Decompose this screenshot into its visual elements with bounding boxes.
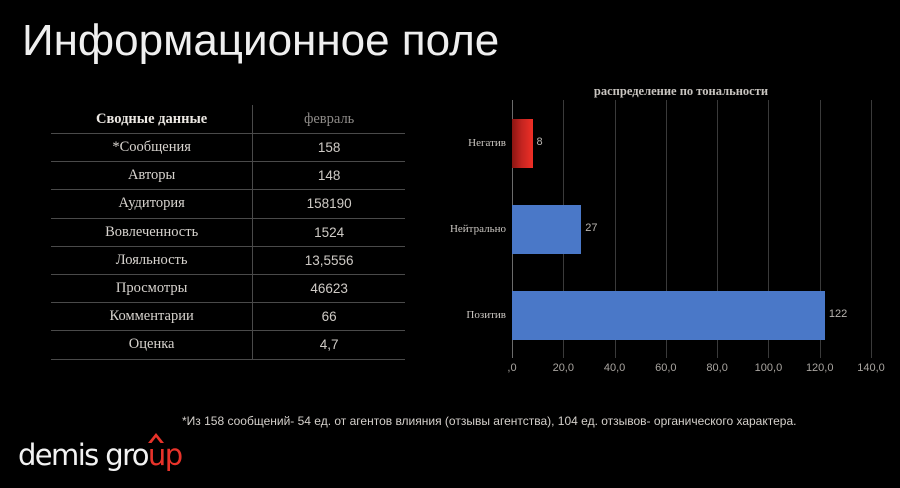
table-cell-value: 66 [253, 303, 405, 331]
table-cell-value: 148 [253, 162, 405, 190]
table-cell-metric: Аудитория [51, 190, 253, 218]
table-cell-metric: Комментарии [51, 303, 253, 331]
caret-up-icon [147, 432, 165, 448]
table-row: Аудитория158190 [51, 190, 405, 218]
x-axis-tick-label: ,0 [507, 362, 516, 374]
table-cell-metric: Вовлеченность [51, 218, 253, 246]
table-cell-metric: *Сообщения [51, 134, 253, 162]
chart-category-label: Позитив [466, 309, 506, 321]
page-title: Информационное поле [22, 16, 499, 66]
footnote-text: *Из 158 сообщений- 54 ед. от агентов вли… [182, 414, 842, 428]
chart-bar [512, 291, 825, 340]
chart-title: распределение по тональности [440, 84, 892, 99]
chart-gridline [871, 100, 872, 358]
table-cell-value: 4,7 [253, 331, 405, 359]
x-axis-tick-label: 100,0 [755, 362, 783, 374]
table-header: Сводные данные февраль [51, 105, 405, 134]
table-cell-metric: Лояльность [51, 246, 253, 274]
table-row: Лояльность13,5556 [51, 246, 405, 274]
table-cell-metric: Просмотры [51, 274, 253, 302]
slide-canvas: Информационное поле Сводные данные февра… [0, 0, 900, 488]
table-cell-metric: Авторы [51, 162, 253, 190]
table-body: *Сообщения158Авторы148Аудитория158190Вов… [51, 134, 405, 360]
table-row: Вовлеченность1524 [51, 218, 405, 246]
chart-category-label: Негатив [468, 137, 506, 149]
sentiment-bar-chart: распределение по тональности ,020,040,06… [440, 84, 892, 389]
table-header-metric: Сводные данные [51, 105, 253, 134]
chart-plot-area: ,020,040,060,080,0100,0120,0140,08Негати… [512, 100, 871, 358]
table-header-row: Сводные данные февраль [51, 105, 405, 134]
x-axis-tick-label: 80,0 [706, 362, 727, 374]
summary-table-element: Сводные данные февраль *Сообщения158Авто… [51, 105, 405, 360]
table-cell-value: 158190 [253, 190, 405, 218]
x-axis-tick-label: 140,0 [857, 362, 885, 374]
chart-bar [512, 205, 581, 254]
table-row: *Сообщения158 [51, 134, 405, 162]
table-row: Авторы148 [51, 162, 405, 190]
table-cell-value: 158 [253, 134, 405, 162]
chart-bar-value-label: 27 [585, 222, 597, 234]
table-cell-metric: Оценка [51, 331, 253, 359]
x-axis-tick-label: 40,0 [604, 362, 625, 374]
table-cell-value: 13,5556 [253, 246, 405, 274]
table-header-period: февраль [253, 105, 405, 134]
table-cell-value: 46623 [253, 274, 405, 302]
table-row: Комментарии66 [51, 303, 405, 331]
x-axis-tick-label: 20,0 [553, 362, 574, 374]
chart-bar-value-label: 8 [537, 136, 543, 148]
chart-category-label: Нейтрально [450, 223, 506, 235]
demis-group-logo[interactable]: demis group [18, 432, 198, 478]
table-row: Оценка4,7 [51, 331, 405, 359]
summary-table: Сводные данные февраль *Сообщения158Авто… [51, 105, 405, 360]
x-axis-tick-label: 120,0 [806, 362, 834, 374]
x-axis-tick-label: 60,0 [655, 362, 676, 374]
logo-text-primary: demis gro [18, 438, 148, 472]
chart-bar [512, 119, 533, 168]
chart-bar-value-label: 122 [829, 308, 847, 320]
table-cell-value: 1524 [253, 218, 405, 246]
table-row: Просмотры46623 [51, 274, 405, 302]
